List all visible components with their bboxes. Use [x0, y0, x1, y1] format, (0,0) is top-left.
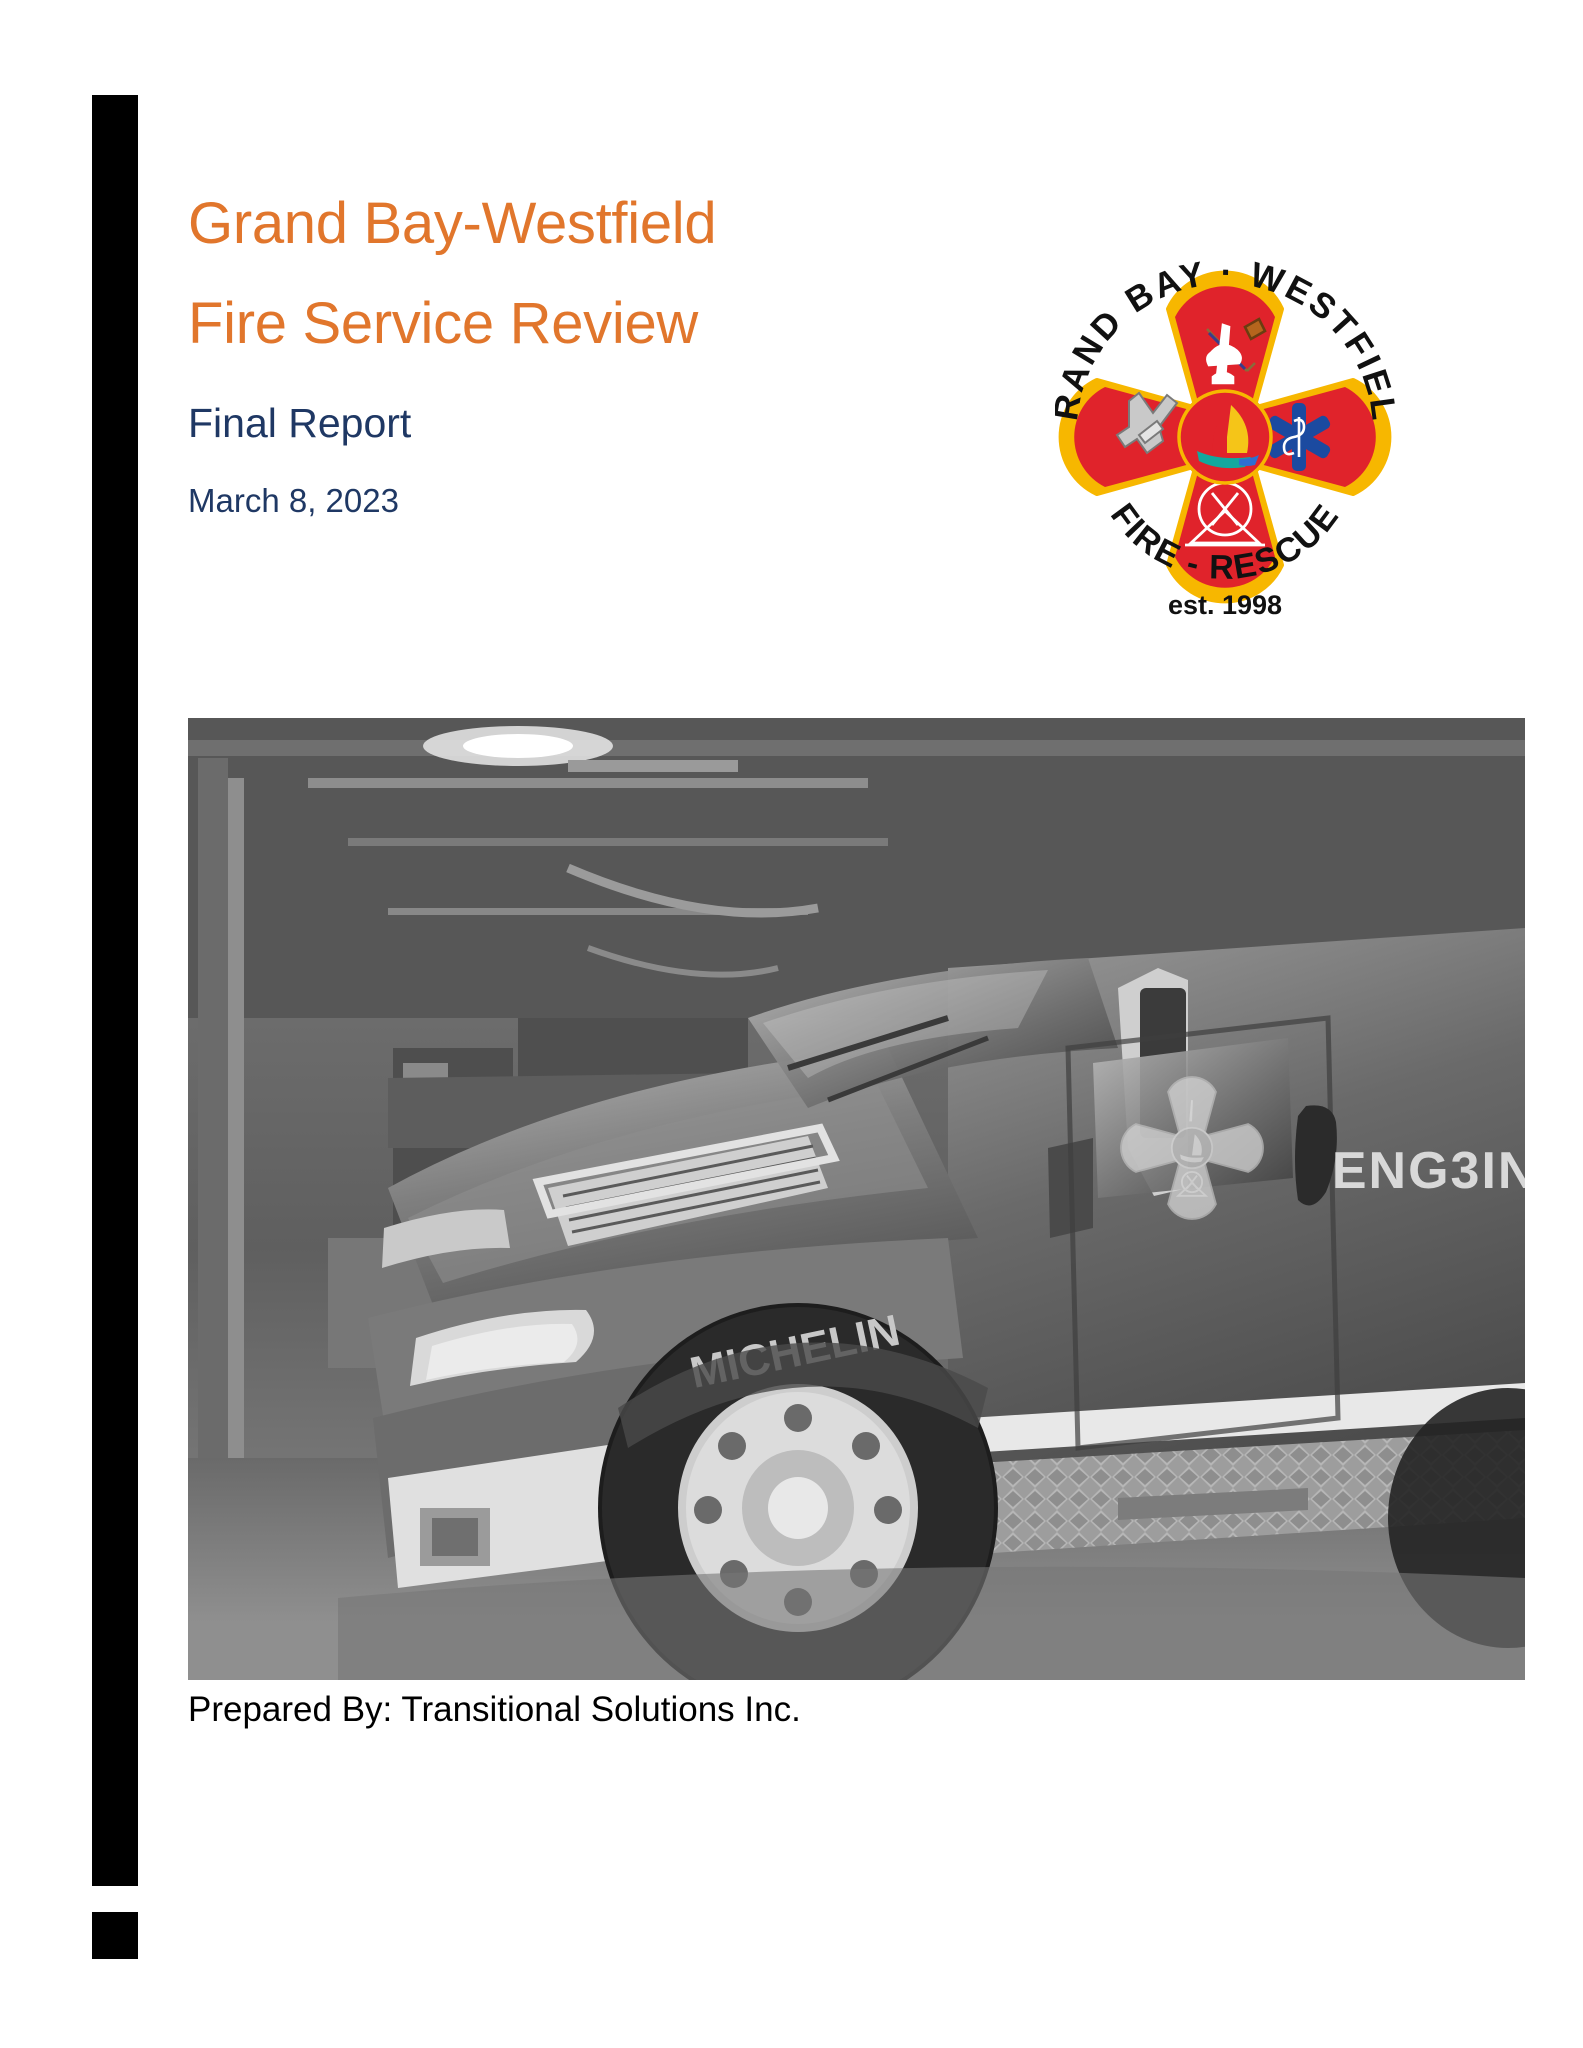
document-cover-page: Grand Bay-Westfield Fire Service Review …: [0, 0, 1583, 2048]
prepared-by-caption: Prepared By: Transitional Solutions Inc.: [188, 1690, 801, 1730]
page-title-line-1: Grand Bay-Westfield: [188, 195, 828, 253]
fire-department-crest-icon: GRAND BAY · WESTFIELD FIRE - RESCUE est.…: [1055, 222, 1395, 622]
left-accent-bar: [92, 95, 138, 1886]
svg-text:est. 1998: est. 1998: [1168, 590, 1282, 620]
document-date: March 8, 2023: [188, 484, 828, 517]
vehicle-marking-text: ENG3INE: [1332, 1142, 1525, 1200]
left-accent-block: [92, 1912, 138, 1959]
fire-engine-photo: ENG3INE: [188, 718, 1525, 1680]
document-subtitle: Final Report: [188, 403, 828, 444]
title-block: Grand Bay-Westfield Fire Service Review …: [188, 195, 828, 517]
page-title-line-2: Fire Service Review: [188, 295, 828, 353]
